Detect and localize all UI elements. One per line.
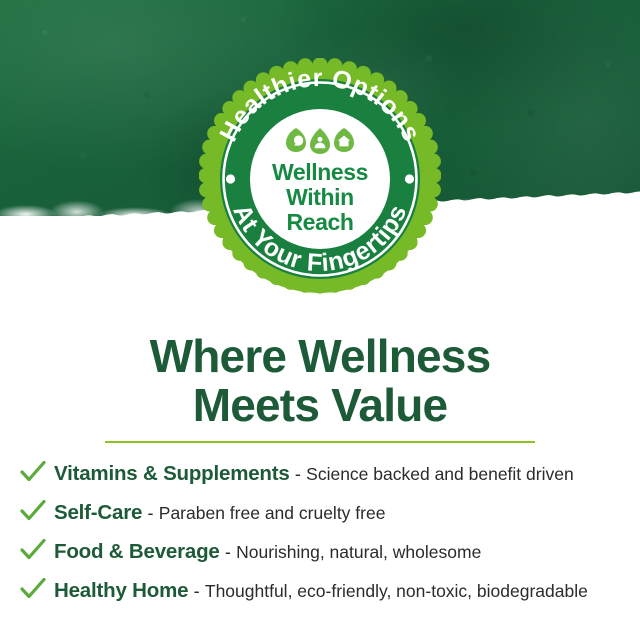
list-item-title: Vitamins & Supplements [54,462,290,485]
headline-line-1: Where Wellness [0,332,640,381]
list-item-dash: - [295,464,301,484]
list-item-text: Self-Care - Paraben free and cruelty fre… [54,502,385,525]
badge-dot-left [226,174,235,183]
list-item-dash: - [148,503,154,523]
list-item-title: Healthy Home [54,579,188,602]
badge-graphic: Healthier Options At Your Fingertips [199,58,441,300]
list-item-title: Food & Beverage [54,540,220,563]
promo-page: Healthier Options At Your Fingertips [0,0,640,640]
list-item: Healthy Home - Thoughtful, eco-friendly,… [20,575,626,614]
list-item-text: Food & Beverage - Nourishing, natural, w… [54,541,481,564]
list-item-dash: - [194,581,200,601]
list-item-description: Nourishing, natural, wholesome [236,542,481,562]
headline-line-2: Meets Value [0,381,640,430]
check-icon [20,461,46,483]
list-item: Vitamins & Supplements - Science backed … [20,458,626,497]
section-divider [105,441,535,443]
page-title: Where Wellness Meets Value [0,332,640,430]
list-item-description: Thoughtful, eco-friendly, non-toxic, bio… [205,581,588,601]
badge-dot-right [405,174,414,183]
list-item-text: Vitamins & Supplements - Science backed … [54,463,574,486]
check-icon [20,578,46,600]
list-item: Food & Beverage - Nourishing, natural, w… [20,536,626,575]
wellness-badge: Healthier Options At Your Fingertips [199,58,441,300]
list-item-title: Self-Care [54,501,142,524]
check-icon [20,500,46,522]
badge-center-disc [250,109,390,249]
list-item-description: Paraben free and cruelty free [159,503,386,523]
list-item-description: Science backed and benefit driven [306,464,574,484]
list-item-text: Healthy Home - Thoughtful, eco-friendly,… [54,580,588,603]
check-icon [20,539,46,561]
list-item: Self-Care - Paraben free and cruelty fre… [20,497,626,536]
list-item-dash: - [225,542,231,562]
benefits-list: Vitamins & Supplements - Science backed … [20,458,626,614]
